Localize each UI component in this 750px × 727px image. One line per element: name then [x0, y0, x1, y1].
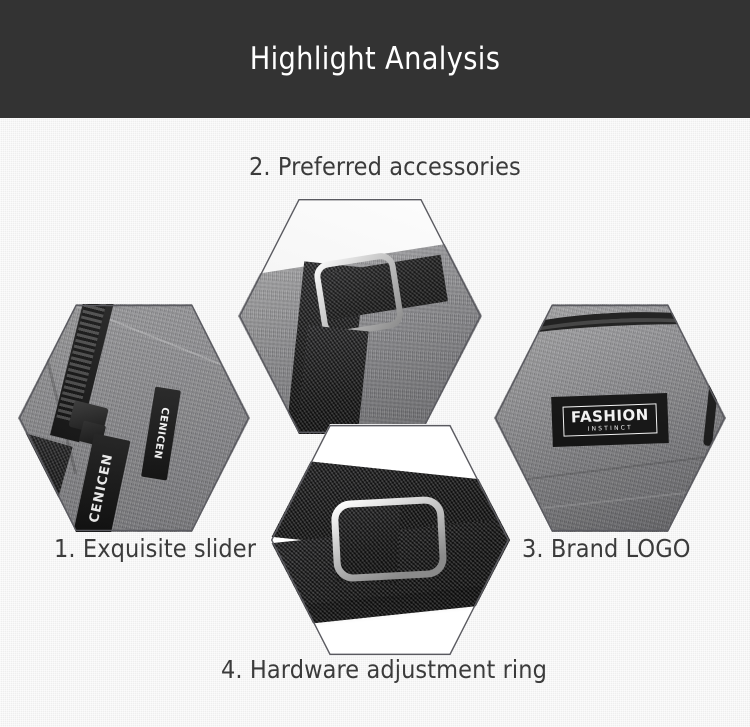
photo-preferred-accessories [238, 198, 482, 434]
hex-photo-clip: CENICEN CENICEN [18, 304, 250, 532]
photo-hardware-adjustment-ring [270, 424, 510, 656]
feature-photo-brand-logo: FASHION INSTINCT [494, 304, 726, 532]
photo-brand-logo: FASHION INSTINCT [494, 304, 726, 532]
feature-photo-exquisite-slider: CENICEN CENICEN [18, 304, 250, 532]
header-bar: Highlight Analysis [0, 0, 750, 118]
photo-exquisite-slider: CENICEN CENICEN [18, 304, 250, 532]
infographic-page: Highlight Analysis [0, 0, 750, 727]
caption-hardware-adjustment-ring: 4. Hardware adjustment ring [221, 655, 547, 684]
caption-brand-logo: 3. Brand LOGO [522, 534, 691, 563]
hex-photo-clip [238, 198, 482, 434]
caption-exquisite-slider: 1. Exquisite slider [54, 534, 256, 563]
feature-photo-preferred-accessories [238, 198, 482, 434]
page-title: Highlight Analysis [45, 0, 705, 118]
adjuster-buckle-icon [270, 424, 510, 656]
hex-photo-clip [270, 424, 510, 656]
feature-photo-hardware-adjustment-ring [270, 424, 510, 656]
hex-photo-clip: FASHION INSTINCT [494, 304, 726, 532]
caption-preferred-accessories: 2. Preferred accessories [249, 152, 521, 181]
